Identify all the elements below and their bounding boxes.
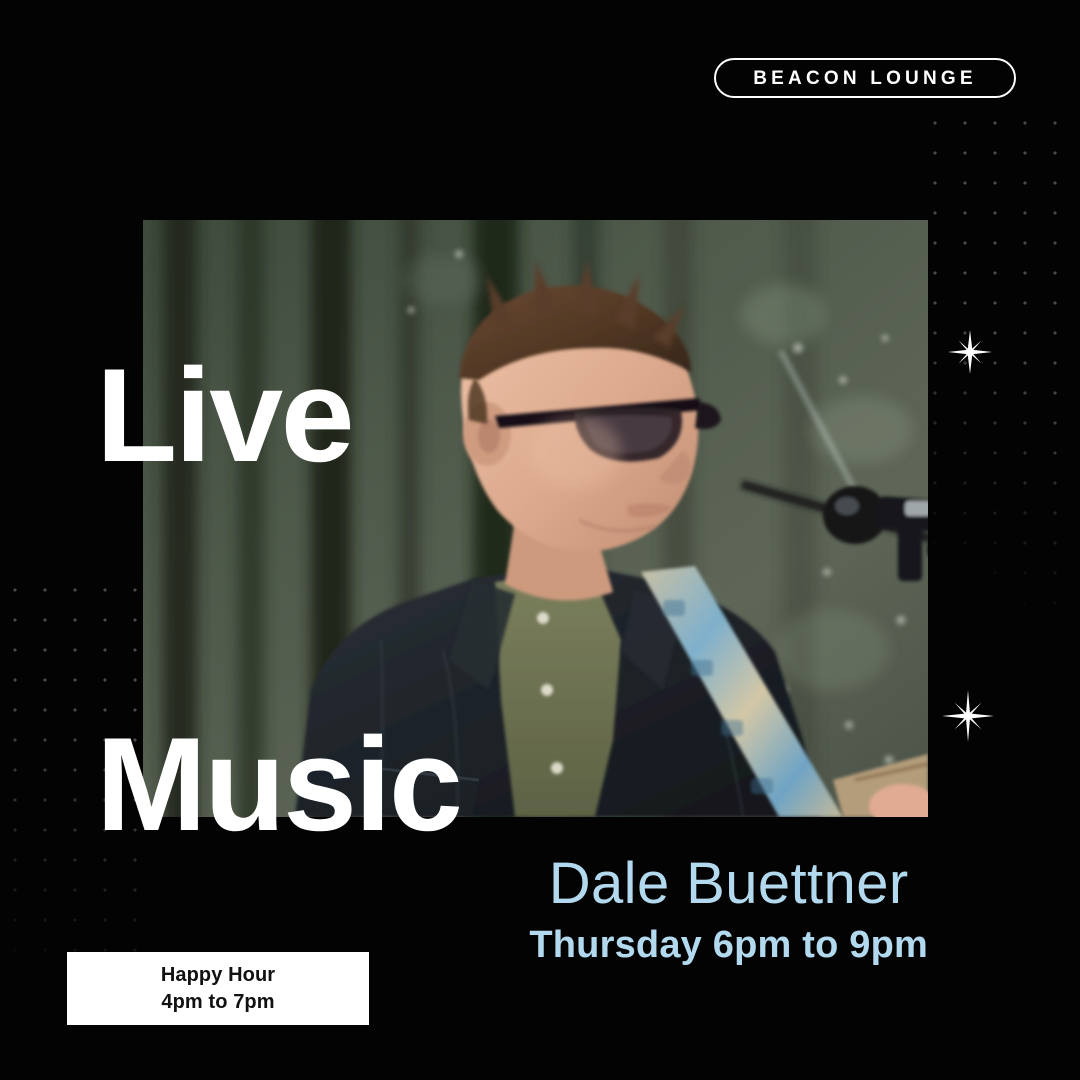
dot-pattern-top-right [920, 108, 1080, 708]
sparkle-icon [942, 690, 994, 742]
brand-badge: BEACON LOUNGE [714, 58, 1016, 98]
brand-badge-label: BEACON LOUNGE [753, 69, 977, 88]
headline-line-2: Music [96, 723, 460, 848]
sparkle-icon [948, 330, 992, 374]
happy-hour-badge: Happy Hour 4pm to 7pm [67, 952, 369, 1025]
poster-canvas: BEACON LOUNGE [0, 0, 1080, 1080]
artist-name: Dale Buettner [529, 852, 928, 917]
happy-hour-title: Happy Hour [161, 962, 275, 989]
happy-hour-times: 4pm to 7pm [161, 989, 274, 1016]
headline-line-1: Live [96, 354, 460, 479]
artist-schedule: Thursday 6pm to 9pm [529, 921, 928, 970]
artist-info: Dale Buettner Thursday 6pm to 9pm [529, 852, 928, 970]
page-title: Live Music [96, 104, 460, 1080]
